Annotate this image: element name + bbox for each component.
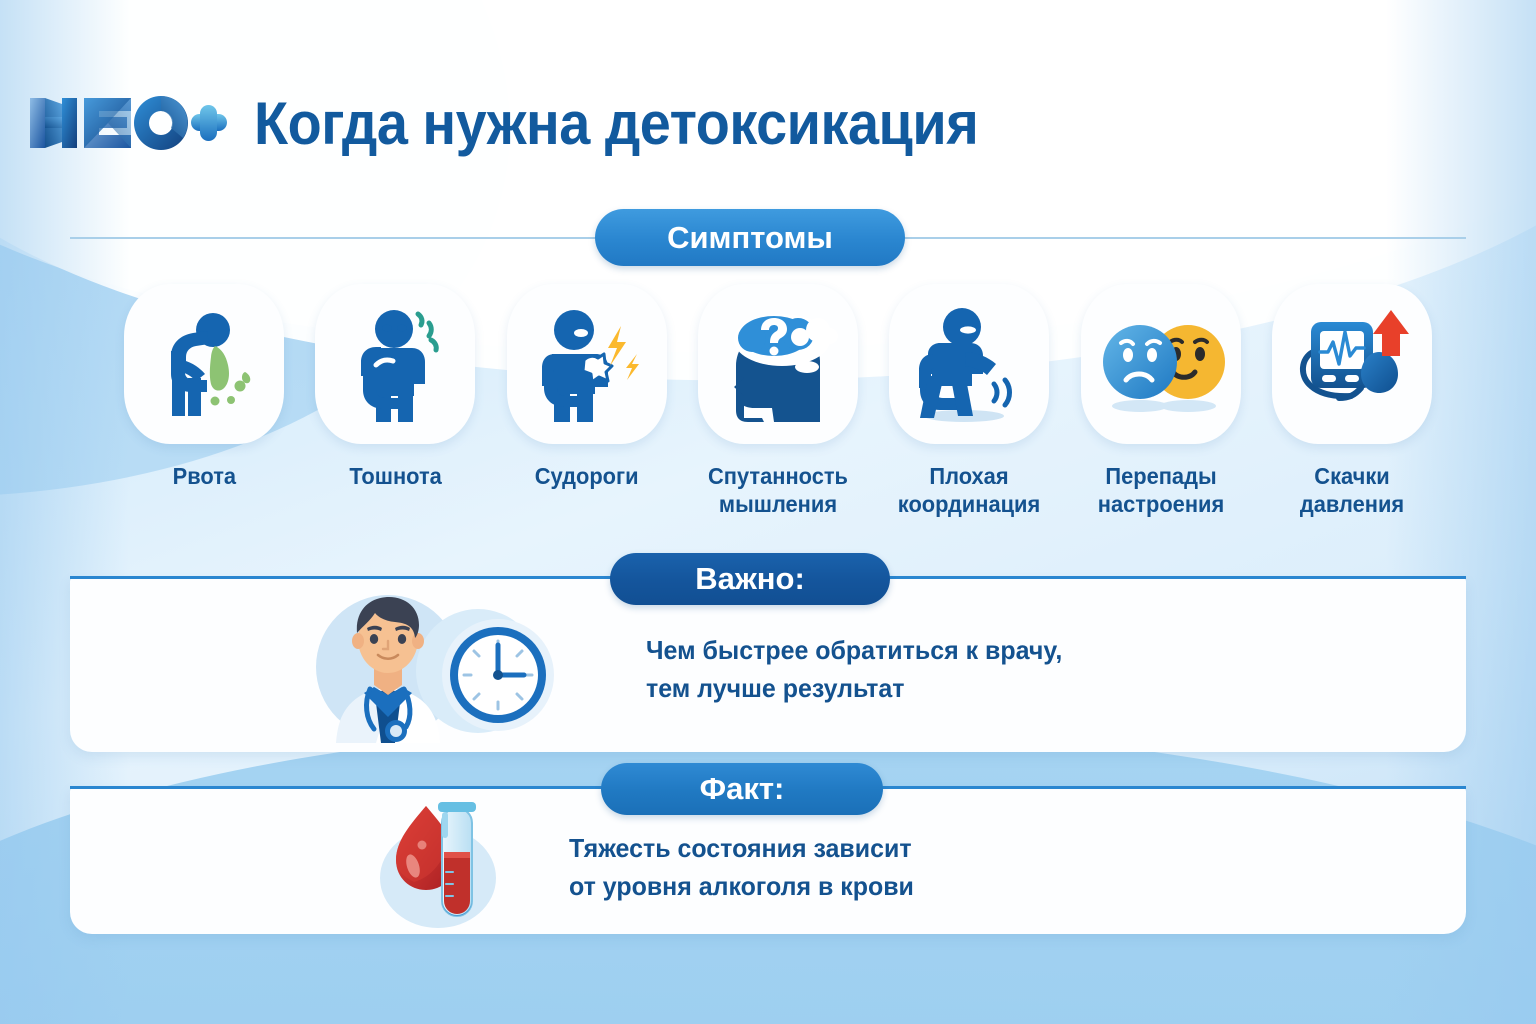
symptom-card — [698, 284, 858, 444]
symptom-label: Спутанность мышления — [696, 462, 859, 518]
poor-coordination-icon — [904, 304, 1034, 424]
symptom-item-mood-swings[interactable]: Перепады настроения — [1075, 284, 1247, 518]
mood-swings-faces-icon — [1096, 304, 1226, 424]
header: Когда нужна детоксикация — [0, 78, 1536, 168]
symptom-item-vomiting[interactable]: Рвота — [118, 284, 290, 518]
symptoms-badge: Симптомы — [595, 209, 905, 266]
symptom-card — [1081, 284, 1241, 444]
vomiting-person-icon — [139, 304, 269, 424]
symptom-card — [507, 284, 667, 444]
symptom-label: Плохая координация — [888, 462, 1051, 518]
neo-plus-logo-icon — [28, 92, 228, 154]
fact-text: Тяжесть состояния зависит от уровня алко… — [569, 830, 914, 905]
doctor-with-clock-illustration — [300, 583, 600, 748]
confused-head-icon — [712, 304, 844, 424]
page-title: Когда нужна детоксикация — [254, 89, 978, 158]
fact-badge: Факт: — [601, 763, 883, 815]
symptom-item-cramps[interactable]: Судороги — [501, 284, 673, 518]
symptom-label: Рвота — [172, 462, 235, 490]
symptom-card — [124, 284, 284, 444]
symptom-label: Перепады настроения — [1079, 462, 1242, 518]
cramps-person-icon — [522, 304, 652, 424]
important-text: Чем быстрее обратиться к врачу, тем лучш… — [646, 632, 1062, 707]
symptom-card — [315, 284, 475, 444]
symptom-card — [889, 284, 1049, 444]
infographic-canvas: Когда нужна детоксикация Симптомы — [0, 0, 1536, 1024]
symptom-item-blood-pressure[interactable]: Скачки давления — [1266, 284, 1438, 518]
symptom-item-coordination[interactable]: Плохая координация — [883, 284, 1055, 518]
symptoms-row: Рвота — [118, 284, 1438, 518]
symptom-card — [1272, 284, 1432, 444]
blood-pressure-monitor-icon — [1287, 304, 1417, 424]
symptom-label: Скачки давления — [1270, 462, 1433, 518]
symptom-item-confusion[interactable]: Спутанность мышления — [692, 284, 864, 518]
symptom-item-nausea[interactable]: Тошнота — [309, 284, 481, 518]
important-badge: Важно: — [610, 553, 890, 605]
nausea-person-icon — [330, 304, 460, 424]
symptom-label: Судороги — [535, 462, 639, 490]
blood-drop-test-tube-illustration — [372, 782, 532, 937]
symptom-label: Тошнота — [349, 462, 441, 490]
